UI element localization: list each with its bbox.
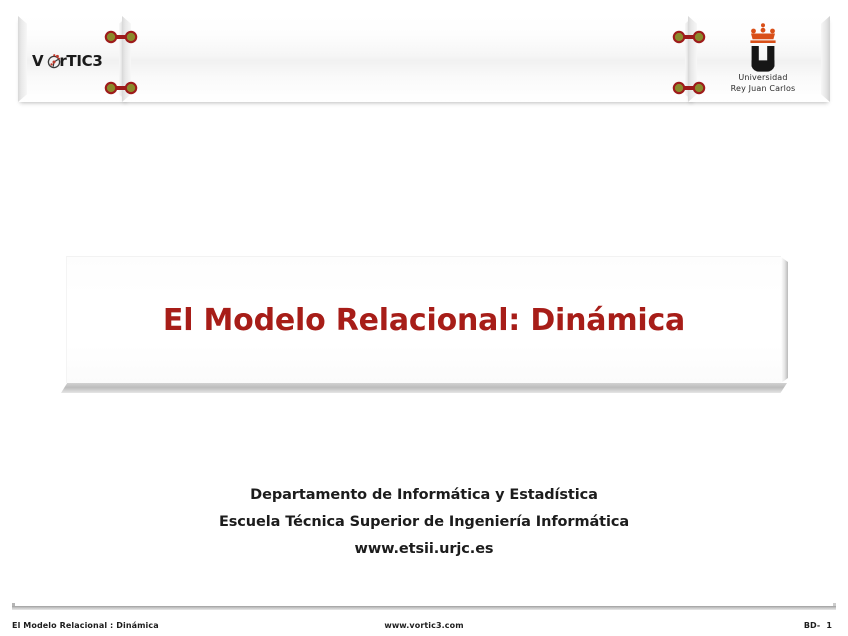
subtitle-line-department: Departamento de Informática y Estadístic… xyxy=(0,482,848,509)
footer-divider xyxy=(12,606,836,610)
footer-bar: El Modelo Relacional : Dinámica www.vort… xyxy=(0,620,848,636)
urjc-line1: Universidad xyxy=(726,73,800,83)
urjc-logo: Universidad Rey Juan Carlos xyxy=(726,22,800,98)
vortice-logo-prefix: V xyxy=(32,52,43,70)
vortice-logo: VrTIC3 xyxy=(32,50,108,72)
connector-left-top xyxy=(104,30,138,44)
urjc-line2: Rey Juan Carlos xyxy=(726,84,800,94)
crown-u-icon xyxy=(739,22,787,72)
footer-page-number: 1 xyxy=(826,621,832,630)
header-band: VrTIC3 xyxy=(0,0,848,118)
footer-page-prefix: BD- xyxy=(804,621,821,630)
subtitle-block: Departamento de Informática y Estadístic… xyxy=(0,482,848,563)
plaque-right-bevel xyxy=(781,257,788,383)
header-panel-center xyxy=(122,16,694,102)
u-letter xyxy=(752,46,775,72)
connector-right-bottom xyxy=(672,81,706,95)
title-plaque: El Modelo Relacional: Dinámica xyxy=(66,256,781,383)
footer-page-indicator: BD-1 xyxy=(0,620,832,632)
plaque-bottom-bevel xyxy=(61,383,787,393)
subtitle-line-website: www.etsii.urjc.es xyxy=(0,536,848,563)
crown-icon xyxy=(750,23,775,43)
vortice-logo-suffix: rTIC3 xyxy=(59,52,102,70)
subtitle-line-school: Escuela Técnica Superior de Ingeniería I… xyxy=(0,509,848,536)
swirl-dot-icon xyxy=(46,53,62,69)
page-title: El Modelo Relacional: Dinámica xyxy=(67,257,781,383)
connector-left-bottom xyxy=(104,81,138,95)
connector-right-top xyxy=(672,30,706,44)
